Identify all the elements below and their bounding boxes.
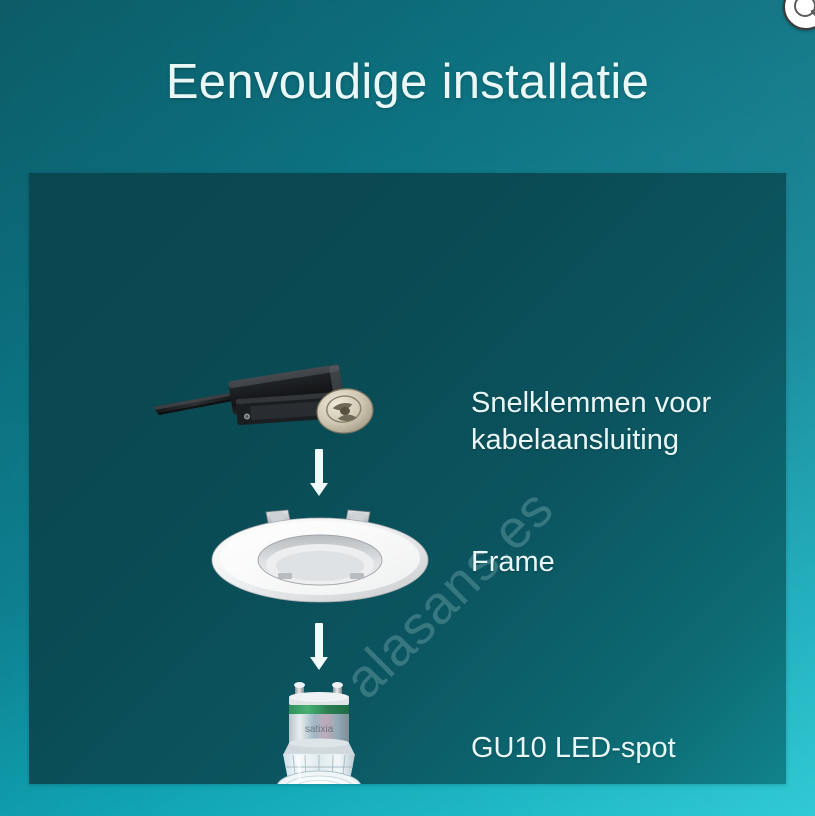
step-label-3: GU10 LED-spot [471, 730, 676, 767]
magnifier-badge[interactable] [783, 0, 815, 30]
svg-text:satixia: satixia [305, 724, 334, 735]
down-arrow-icon-1 [310, 449, 328, 497]
slide-canvas: Eenvoudige installatie alasans.es [0, 0, 815, 816]
page-title: Eenvoudige installatie [0, 56, 815, 110]
gu10-led-spot-image: satixia [263, 681, 375, 784]
down-arrow-icon-2 [310, 623, 328, 671]
downlight-frame-image [204, 498, 436, 610]
terminal-block-connector-image [147, 363, 382, 441]
step-label-1: Snelklemmen voor kabelaansluiting [471, 385, 711, 459]
step-label-2: Frame [471, 544, 555, 581]
content-panel: alasans.es [29, 173, 786, 784]
